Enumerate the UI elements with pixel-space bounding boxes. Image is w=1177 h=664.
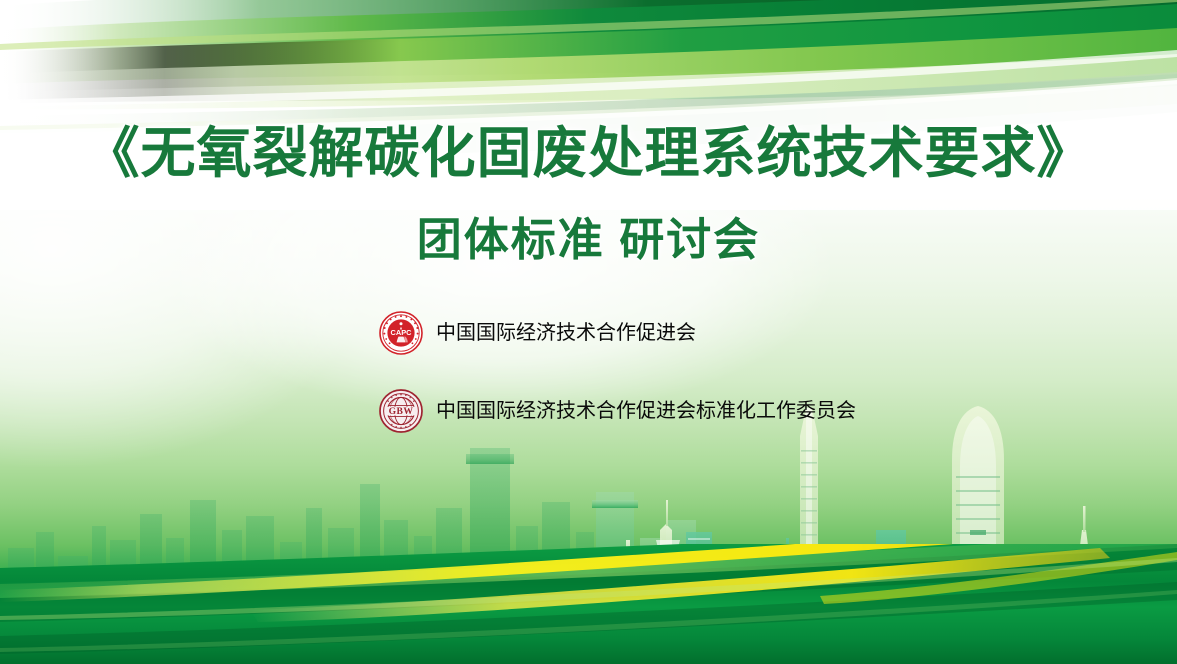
gbw-seal-logo: GBW (378, 388, 424, 434)
page-subtitle: 团体标准 研讨会 (0, 203, 1177, 268)
presentation-slide: 《无氧裂解碳化固废处理系统技术要求》 团体标准 研讨会 (0, 0, 1177, 664)
organization-row: CAPC 中国国际经济技术合作促进会 (378, 310, 696, 356)
organization-label: 中国国际经济技术合作促进会 (436, 323, 696, 343)
capc-seal-logo: CAPC (378, 310, 424, 356)
slide-content: 《无氧裂解碳化固废处理系统技术要求》 团体标准 研讨会 (0, 0, 1177, 664)
capc-logo-text: CAPC (391, 328, 413, 337)
organization-row: GBW 中国国际经济技术合作促进会标准化工作委员会 (378, 388, 856, 434)
gbw-logo-text: GBW (389, 406, 414, 417)
organization-label: 中国国际经济技术合作促进会标准化工作委员会 (436, 401, 856, 421)
page-title: 《无氧裂解碳化固废处理系统技术要求》 (0, 108, 1177, 188)
